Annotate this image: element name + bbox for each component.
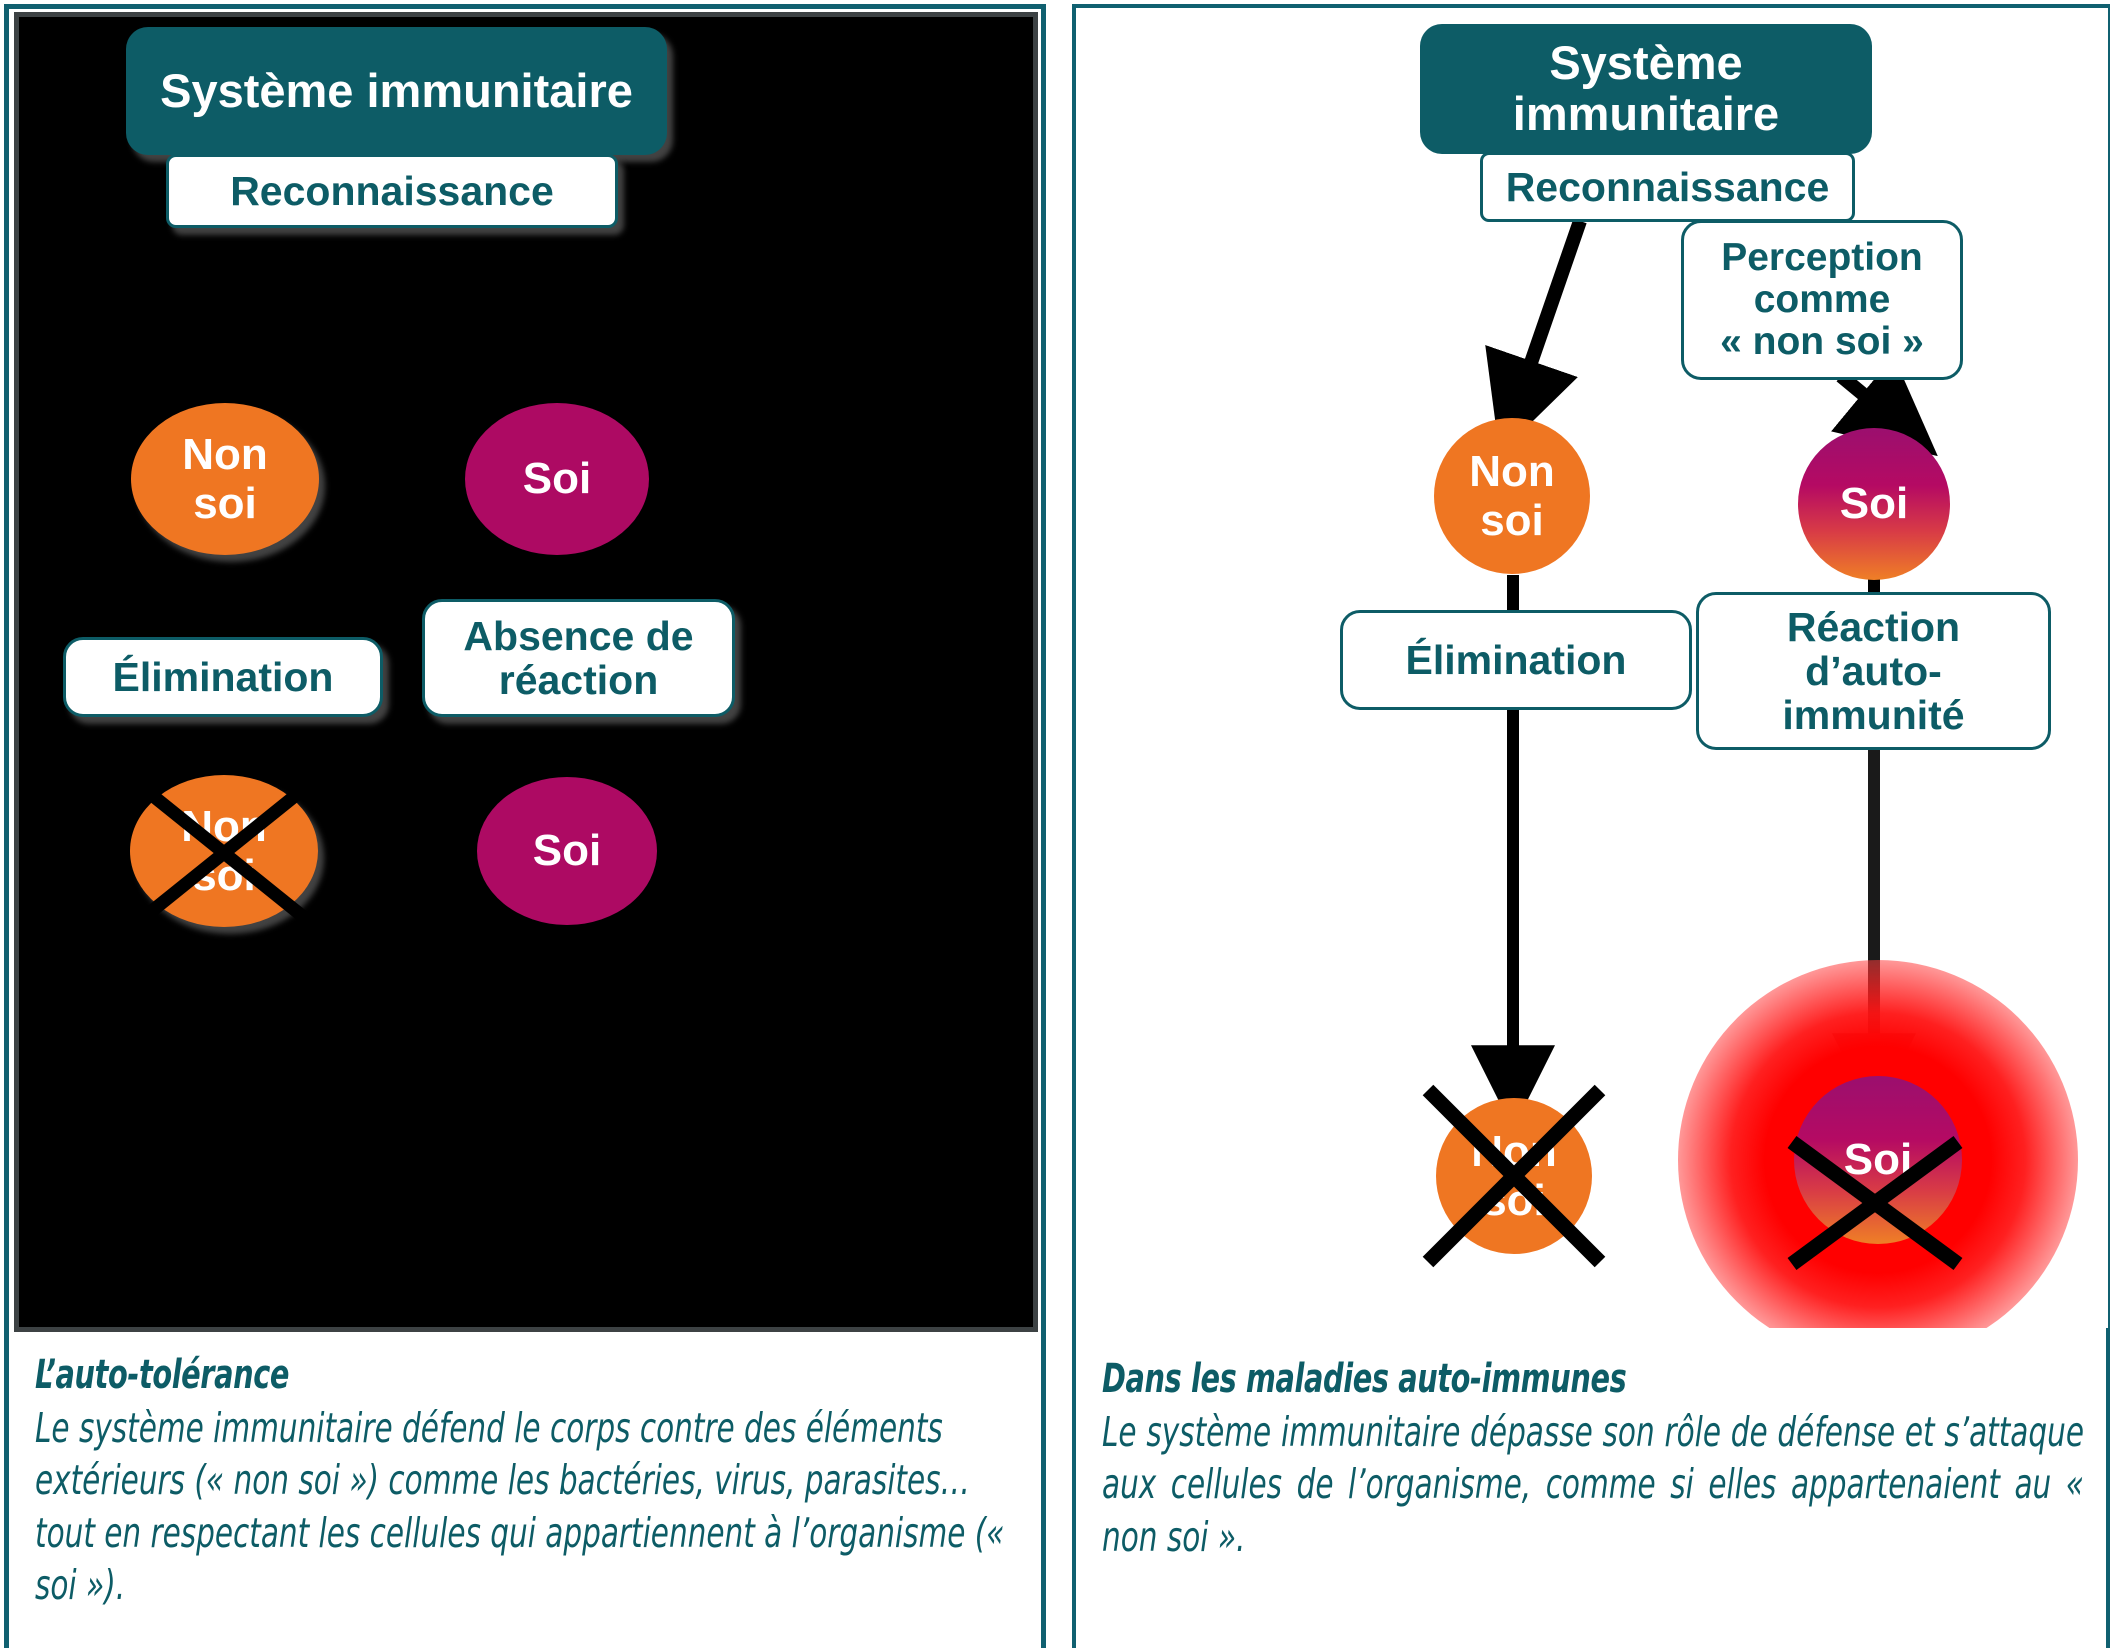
left-nonself-ellipse-label: Nonsoi (182, 430, 268, 529)
right-autoimmune-reaction-label: Réactiond’auto-immunité (1782, 605, 1964, 738)
right-caption-title: Dans les maladies auto-immunes (1102, 1356, 1888, 1402)
right-self-attacked-label: Soi (1844, 1135, 1912, 1184)
left-recognition-label: Reconnaissance (230, 169, 554, 213)
right-immune-system-header: Système immunitaire (1420, 24, 1872, 154)
left-immune-system-header-label: Système immunitaire (160, 66, 633, 117)
right-self-attacked-circle: Soi (1794, 1076, 1962, 1244)
left-self-preserved-ellipse: Soi (477, 777, 657, 925)
right-autoimmune-reaction-box: Réactiond’auto-immunité (1696, 592, 2051, 750)
right-immune-system-header-label: Système immunitaire (1420, 38, 1872, 140)
right-recognition-label: Reconnaissance (1506, 165, 1830, 209)
right-perception-box: Perceptioncomme« non soi » (1681, 220, 1963, 380)
left-diagram-canvas: Système immunitaire Reconnaissance Nonso… (14, 12, 1038, 1332)
right-recognition-box: Reconnaissance (1480, 152, 1855, 222)
right-nonself-circle-label: Nonsoi (1469, 447, 1555, 546)
left-recognition-box: Reconnaissance (166, 154, 618, 228)
comparison-figure: Système immunitaire Reconnaissance Nonso… (0, 0, 2118, 1652)
left-nonself-eliminated-ellipse: Nonsoi (130, 775, 318, 927)
left-self-preserved-label: Soi (533, 826, 601, 875)
left-nonself-ellipse: Nonsoi (131, 403, 319, 555)
right-elimination-box: Élimination (1340, 610, 1692, 710)
left-immune-system-header: Système immunitaire (126, 27, 667, 155)
left-self-ellipse-label: Soi (523, 454, 591, 503)
left-caption-title: L’auto-tolérance (35, 1352, 822, 1398)
panel-auto-tolerance: Système immunitaire Reconnaissance Nonso… (0, 0, 1060, 1652)
right-diagram-canvas: Système immunitaire Reconnaissance Perce… (1076, 8, 2108, 1328)
right-nonself-eliminated-label: Nonsoi (1471, 1127, 1557, 1226)
left-caption-body: Le système immunitaire défend le corps c… (35, 1402, 1019, 1612)
right-self-circle: Soi (1798, 428, 1950, 580)
left-caption: L’auto-tolérance Le système immunitaire … (9, 1338, 1041, 1652)
right-nonself-circle: Nonsoi (1434, 418, 1590, 574)
left-no-reaction-box: Absence deréaction (422, 599, 735, 717)
right-caption-body: Le système immunitaire dépasse son rôle … (1102, 1406, 2084, 1563)
left-no-reaction-label: Absence deréaction (463, 614, 693, 703)
right-perception-label: Perceptioncomme« non soi » (1720, 237, 1924, 363)
left-elimination-label: Élimination (113, 655, 334, 699)
right-caption: Dans les maladies auto-immunes Le systèm… (1076, 1342, 2106, 1652)
panel-autoimmune-disease: Système immunitaire Reconnaissance Perce… (1060, 0, 2118, 1652)
left-elimination-box: Élimination (63, 637, 383, 717)
left-self-ellipse: Soi (465, 403, 649, 555)
right-nonself-eliminated-circle: Nonsoi (1436, 1098, 1592, 1254)
right-self-circle-label: Soi (1840, 479, 1908, 528)
right-elimination-label: Élimination (1406, 638, 1627, 682)
left-nonself-eliminated-label: Nonsoi (181, 802, 267, 901)
